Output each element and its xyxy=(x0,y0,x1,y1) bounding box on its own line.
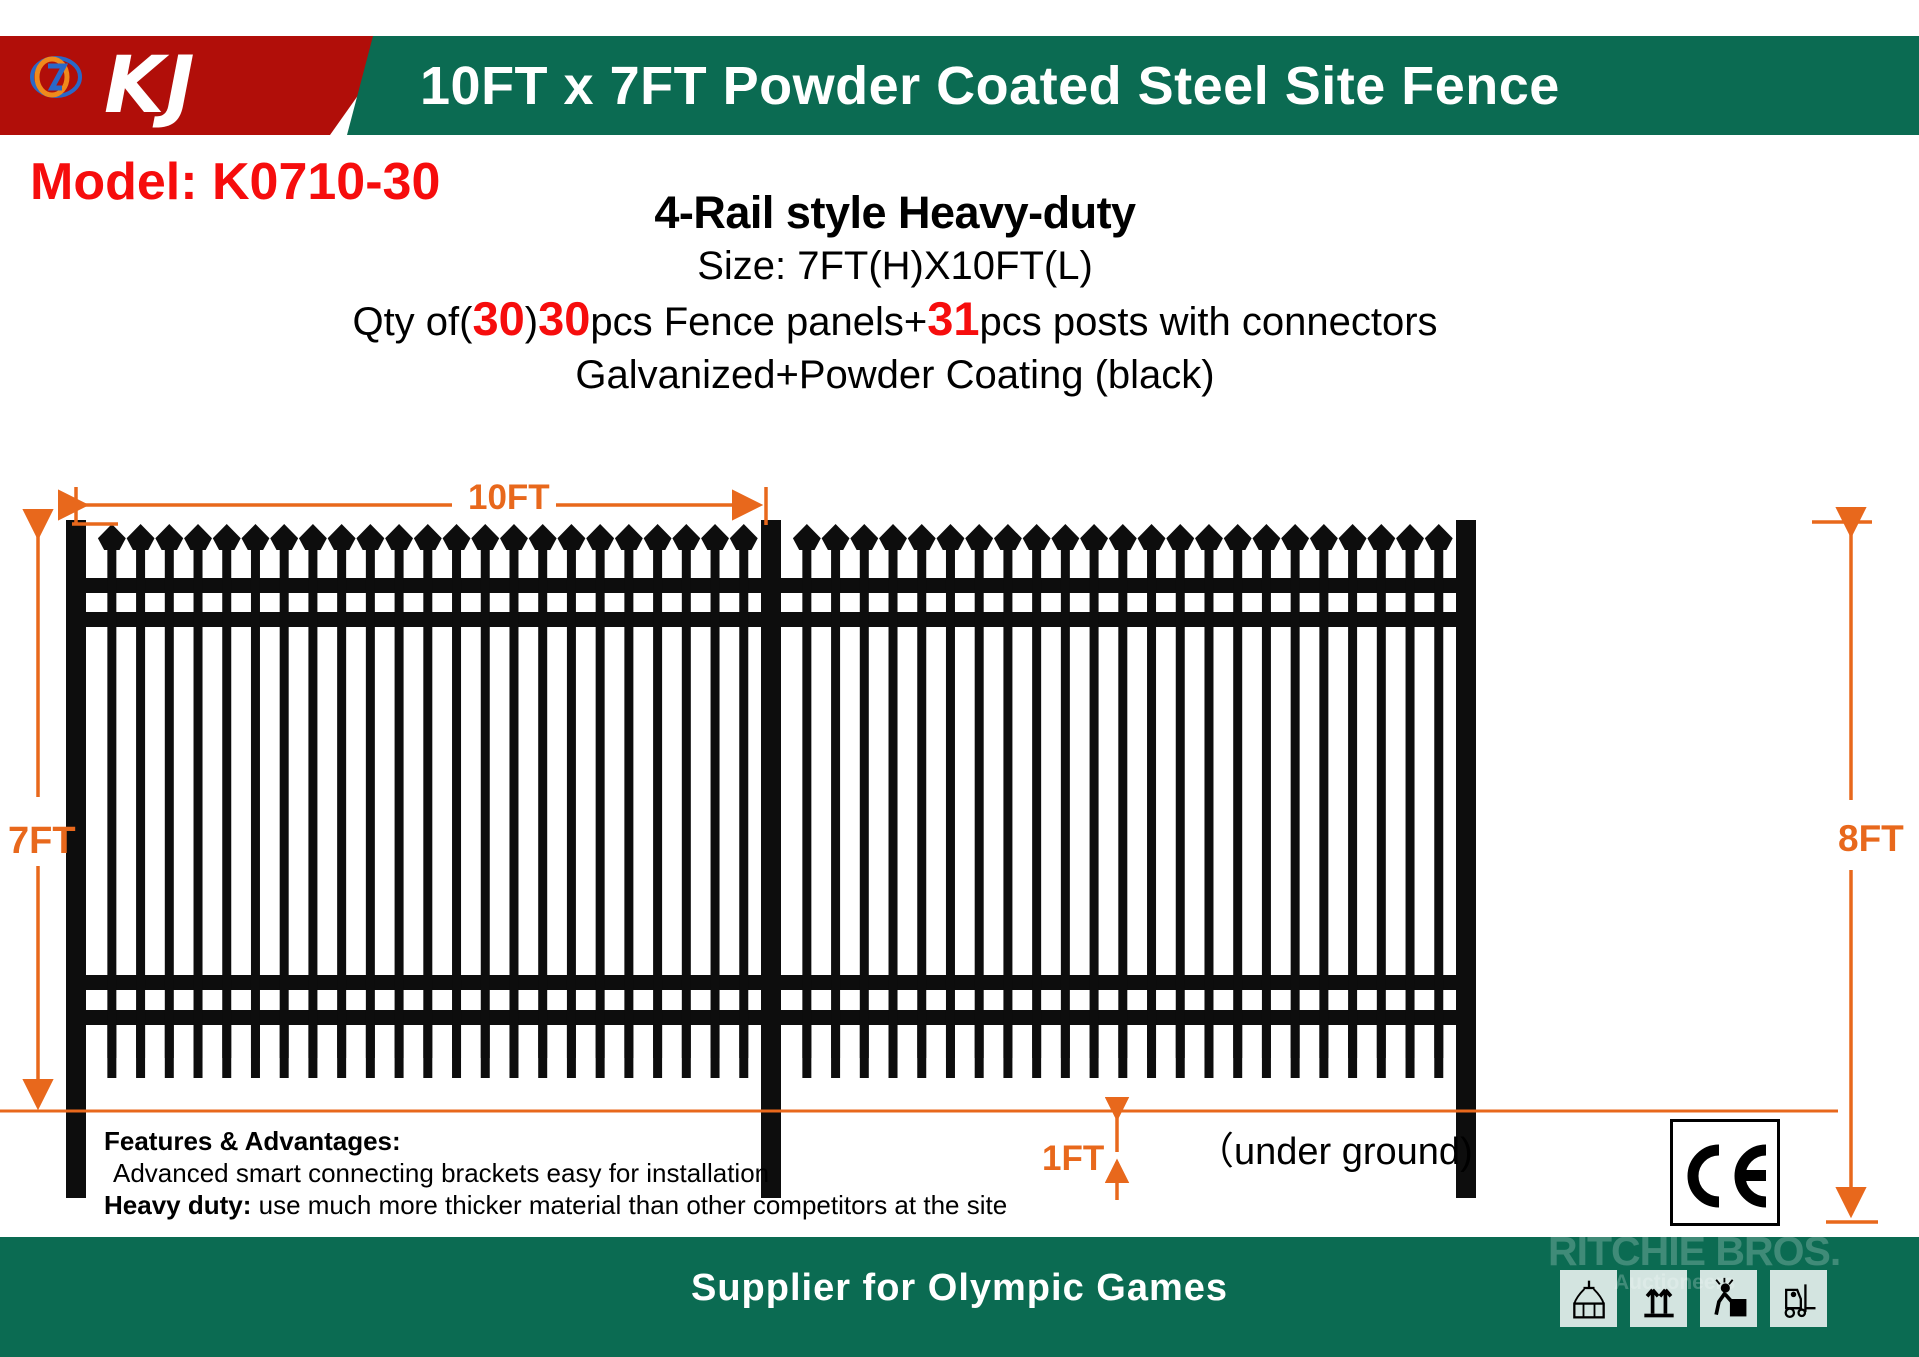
this-way-up-icon xyxy=(1630,1270,1687,1327)
picket-spear-tip xyxy=(672,524,700,550)
picket-spear-tip xyxy=(1023,524,1051,550)
fence-picket xyxy=(251,538,260,1058)
fence-picket xyxy=(481,538,490,1058)
fence-picket-stub xyxy=(624,1025,633,1078)
fence-picket xyxy=(337,538,346,1058)
picket-spear-tip xyxy=(1425,524,1453,550)
picket-spear-tip xyxy=(1138,524,1166,550)
fence-picket xyxy=(1233,538,1242,1058)
dim-10ft-label: 10FT xyxy=(468,478,550,518)
fence-picket-stub xyxy=(1291,1025,1300,1078)
picket-spear-tip xyxy=(1166,524,1194,550)
picket-spear-tip xyxy=(1195,524,1223,550)
fence-picket-stub xyxy=(653,1025,662,1078)
picket-spear-tip xyxy=(1310,524,1338,550)
fence-picket-stub xyxy=(917,1025,926,1078)
fence-picket-stub xyxy=(366,1025,375,1078)
fence-post-3 xyxy=(1456,520,1476,1198)
fence-picket xyxy=(889,538,898,1058)
underground-note: （under ground) xyxy=(1196,1120,1473,1175)
feature-line-2: Heavy duty: use much more thicker materi… xyxy=(104,1189,1044,1221)
picket-spear-tip xyxy=(299,524,327,550)
fence-picket-stub xyxy=(831,1025,840,1078)
fence-picket xyxy=(682,538,691,1058)
picket-spear-tip xyxy=(213,524,241,550)
fence-picket xyxy=(831,538,840,1058)
fence-picket-stub xyxy=(1032,1025,1041,1078)
fence-picket-stub xyxy=(889,1025,898,1078)
fence-picket xyxy=(509,538,518,1058)
fence-picket-stub xyxy=(1377,1025,1386,1078)
fence-picket xyxy=(975,538,984,1058)
feature-line-2-label: Heavy duty: xyxy=(104,1190,251,1220)
fence-picket xyxy=(1090,538,1099,1058)
fence-picket-stub xyxy=(860,1025,869,1078)
picket-spear-tip xyxy=(1080,524,1108,550)
fence-picket-stub xyxy=(711,1025,720,1078)
fence-picket xyxy=(136,538,145,1058)
fence-picket-stub xyxy=(1147,1025,1156,1078)
fence-picket-stub xyxy=(1003,1025,1012,1078)
fence-picket-stub xyxy=(739,1025,748,1078)
fence-picket xyxy=(1061,538,1070,1058)
fence-picket-stub xyxy=(481,1025,490,1078)
dim-7ft-label: 7FT xyxy=(8,820,76,863)
fence-picket xyxy=(1176,538,1185,1058)
picket-spear-tip xyxy=(1367,524,1395,550)
fence-picket-stub xyxy=(194,1025,203,1078)
fence-picket-stub xyxy=(1319,1025,1328,1078)
picket-spear-tip xyxy=(908,524,936,550)
fence-picket-stub xyxy=(1204,1025,1213,1078)
fence-picket-stub xyxy=(308,1025,317,1078)
fence-picket-stub xyxy=(946,1025,955,1078)
picket-spear-tip xyxy=(385,524,413,550)
picket-spear-tip xyxy=(443,524,471,550)
picket-spear-tip xyxy=(701,524,729,550)
fence-picket-stub xyxy=(222,1025,231,1078)
fence-picket-stub xyxy=(1434,1025,1443,1078)
picket-spear-tip xyxy=(730,524,758,550)
dim-8ft-label: 8FT xyxy=(1838,818,1904,860)
fence-picket-stub xyxy=(975,1025,984,1078)
fence-picket xyxy=(194,538,203,1058)
picket-spear-tip xyxy=(356,524,384,550)
picket-spear-tip xyxy=(1224,524,1252,550)
picket-spear-tip xyxy=(1396,524,1424,550)
fence-picket-stub xyxy=(280,1025,289,1078)
picket-spear-tip xyxy=(586,524,614,550)
fence-post-2 xyxy=(761,520,781,1198)
picket-spear-tip xyxy=(879,524,907,550)
ce-mark-icon xyxy=(1673,1122,1783,1229)
fence-picket-stub xyxy=(395,1025,404,1078)
fence-picket xyxy=(423,538,432,1058)
picket-spear-tip xyxy=(1051,524,1079,550)
fence-picket xyxy=(653,538,662,1058)
picket-spear-tip xyxy=(965,524,993,550)
fence-picket-stub xyxy=(423,1025,432,1078)
fence-picket xyxy=(946,538,955,1058)
fence-picket xyxy=(1032,538,1041,1058)
fence-picket xyxy=(739,538,748,1058)
picket-spear-tip xyxy=(98,524,126,550)
fence-picket xyxy=(860,538,869,1058)
fence-picket-stub xyxy=(452,1025,461,1078)
features-heading: Features & Advantages: xyxy=(104,1125,1044,1157)
sling-here-icon xyxy=(1560,1270,1617,1327)
fence-picket xyxy=(107,538,116,1058)
picket-spear-tip xyxy=(270,524,298,550)
fence-picket xyxy=(280,538,289,1058)
picket-spear-tip xyxy=(1109,524,1137,550)
picket-spear-tip xyxy=(793,524,821,550)
picket-spear-tip xyxy=(127,524,155,550)
handle-with-care-icon xyxy=(1700,1270,1757,1327)
fence-picket-stub xyxy=(165,1025,174,1078)
fence-picket xyxy=(624,538,633,1058)
fence-picket-stub xyxy=(567,1025,576,1078)
fence-picket-stub xyxy=(337,1025,346,1078)
features-block: Features & Advantages: Advanced smart co… xyxy=(104,1125,1044,1221)
fence-picket xyxy=(1003,538,1012,1058)
picket-spear-tip xyxy=(529,524,557,550)
fence-picket xyxy=(1377,538,1386,1058)
fence-picket xyxy=(1291,538,1300,1058)
picket-spear-tip xyxy=(937,524,965,550)
fence-picket-stub xyxy=(682,1025,691,1078)
fence-picket-stub xyxy=(251,1025,260,1078)
fence-picket xyxy=(538,538,547,1058)
fence-picket-stub xyxy=(1262,1025,1271,1078)
picket-spear-tip xyxy=(1339,524,1367,550)
fence-picket xyxy=(165,538,174,1058)
product-spec-sheet: KJ 10FT x 7FT Powder Coated Steel Site F… xyxy=(0,0,1919,1357)
watermark-main: RITCHIE BROS. xyxy=(1548,1228,1840,1274)
picket-spear-tip xyxy=(414,524,442,550)
fence-picket xyxy=(1147,538,1156,1058)
fence-picket xyxy=(1348,538,1357,1058)
fence-picket-stub xyxy=(538,1025,547,1078)
fence-picket-stub xyxy=(596,1025,605,1078)
picket-spear-tip xyxy=(850,524,878,550)
picket-spear-tip xyxy=(184,524,212,550)
fence-picket xyxy=(222,538,231,1058)
fence-picket xyxy=(452,538,461,1058)
picket-spear-tip xyxy=(822,524,850,550)
fence-picket-stub xyxy=(1090,1025,1099,1078)
picket-spear-tip xyxy=(1252,524,1280,550)
fence-picket xyxy=(1434,538,1443,1058)
picket-spear-tip xyxy=(471,524,499,550)
fence-picket xyxy=(1118,538,1127,1058)
fence-picket-stub xyxy=(1176,1025,1185,1078)
picket-spear-tip xyxy=(242,524,270,550)
fence-picket-stub xyxy=(509,1025,518,1078)
picket-spear-tip xyxy=(994,524,1022,550)
fence-picket xyxy=(596,538,605,1058)
fence-picket xyxy=(308,538,317,1058)
picket-spear-tip xyxy=(328,524,356,550)
picket-spear-tip xyxy=(615,524,643,550)
fence-picket-stub xyxy=(802,1025,811,1078)
picket-spear-tip xyxy=(155,524,183,550)
fence-picket xyxy=(917,538,926,1058)
picket-spear-tip xyxy=(500,524,528,550)
fence-picket xyxy=(567,538,576,1058)
fence-picket-stub xyxy=(1348,1025,1357,1078)
feature-line-2-text: use much more thicker material than othe… xyxy=(251,1190,1007,1220)
fence-picket xyxy=(1262,538,1271,1058)
handling-pictograms xyxy=(1560,1270,1827,1327)
forklift-icon xyxy=(1770,1270,1827,1327)
feature-line-1: Advanced smart connecting brackets easy … xyxy=(104,1157,1044,1189)
fence-picket xyxy=(1204,538,1213,1058)
picket-spear-tip xyxy=(1281,524,1309,550)
fence-picket xyxy=(366,538,375,1058)
dim-1ft-label: 1FT xyxy=(1042,1139,1104,1179)
ce-mark-box xyxy=(1670,1119,1780,1226)
fence-picket xyxy=(395,538,404,1058)
fence-picket-stub xyxy=(1061,1025,1070,1078)
picket-spear-tip xyxy=(557,524,585,550)
fence-picket xyxy=(802,538,811,1058)
fence-picket xyxy=(1319,538,1328,1058)
picket-spear-tip xyxy=(644,524,672,550)
fence-picket-stub xyxy=(107,1025,116,1078)
fence-picket xyxy=(1406,538,1415,1058)
fence-picket-stub xyxy=(136,1025,145,1078)
fence-picket-stub xyxy=(1233,1025,1242,1078)
fence-picket-stub xyxy=(1118,1025,1127,1078)
fence-picket xyxy=(711,538,720,1058)
fence-picket-stub xyxy=(1406,1025,1415,1078)
